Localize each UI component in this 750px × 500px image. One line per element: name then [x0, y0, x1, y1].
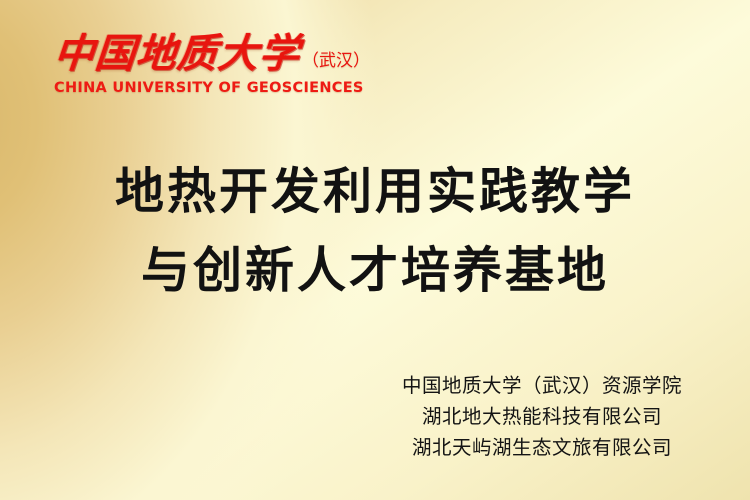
title-line-1: 地热开发利用实践教学: [0, 152, 750, 231]
affiliation-list: 中国地质大学（武汉）资源学院 湖北地大热能科技有限公司 湖北天屿湖生态文旅有限公…: [402, 370, 682, 463]
logo-wordmark-chinese: 中国地质大学: [52, 32, 302, 76]
title-line-2: 与创新人才培养基地: [0, 231, 750, 310]
logo-campus-label: （武汉）: [302, 51, 370, 76]
title-slide: 中国地质大学 （武汉） CHINA UNIVERSITY OF GEOSCIEN…: [0, 0, 750, 500]
university-logo: 中国地质大学 （武汉） CHINA UNIVERSITY OF GEOSCIEN…: [54, 24, 384, 102]
affiliation-line-2: 湖北地大热能科技有限公司: [402, 401, 682, 432]
affiliation-line-1: 中国地质大学（武汉）资源学院: [402, 370, 682, 401]
page-title: 地热开发利用实践教学 与创新人才培养基地: [0, 152, 750, 310]
affiliation-line-3: 湖北天屿湖生态文旅有限公司: [402, 432, 682, 463]
logo-wordmark-english: CHINA UNIVERSITY OF GEOSCIENCES: [54, 80, 384, 96]
logo-wordmark-row: 中国地质大学 （武汉）: [54, 24, 384, 76]
